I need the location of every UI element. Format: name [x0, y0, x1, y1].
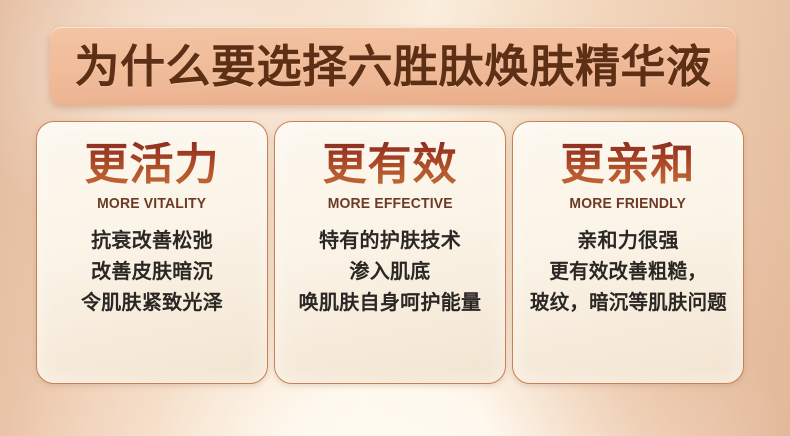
card-line: 渗入肌底 — [349, 259, 430, 283]
card-body-lines: 亲和力很强 更有效改善粗糙， 玻纹，暗沉等肌肤问题 — [513, 228, 743, 314]
card-subheading: MORE FRIENDLY — [570, 195, 687, 212]
card-body-lines: 抗衰改善松弛 改善皮肤暗沉 令肌肤紧致光泽 — [37, 228, 267, 314]
card-line: 令肌肤紧致光泽 — [81, 290, 223, 314]
card-heading: 更活力 — [85, 142, 220, 188]
card-body-lines: 特有的护肤技术 渗入肌底 唤肌肤自身呵护能量 — [275, 228, 505, 314]
feature-card-effective: 更有效 MORE EFFECTIVE 特有的护肤技术 渗入肌底 唤肌肤自身呵护能… — [274, 121, 506, 384]
card-subheading: MORE EFFECTIVE — [327, 195, 452, 212]
feature-card-vitality: 更活力 MORE VITALITY 抗衰改善松弛 改善皮肤暗沉 令肌肤紧致光泽 — [36, 121, 268, 384]
card-line: 玻纹，暗沉等肌肤问题 — [530, 290, 727, 314]
card-line: 改善皮肤暗沉 — [91, 259, 213, 283]
feature-card-friendly: 更亲和 MORE FRIENDLY 亲和力很强 更有效改善粗糙， 玻纹，暗沉等肌… — [512, 121, 744, 384]
header-banner: 为什么要选择六胜肽焕肤精华液 — [50, 27, 736, 105]
card-line: 特有的护肤技术 — [319, 228, 461, 252]
card-line: 更有效改善粗糙， — [549, 259, 707, 283]
feature-cards-row: 更活力 MORE VITALITY 抗衰改善松弛 改善皮肤暗沉 令肌肤紧致光泽 … — [36, 121, 744, 384]
card-subheading: MORE VITALITY — [97, 195, 206, 212]
banner-title: 为什么要选择六胜肽焕肤精华液 — [74, 44, 711, 89]
promo-poster: 为什么要选择六胜肽焕肤精华液 更活力 MORE VITALITY 抗衰改善松弛 … — [0, 0, 790, 436]
card-heading: 更亲和 — [561, 142, 696, 188]
card-line: 亲和力很强 — [577, 228, 679, 252]
card-line: 抗衰改善松弛 — [91, 228, 213, 252]
card-line: 唤肌肤自身呵护能量 — [299, 290, 482, 314]
card-heading: 更有效 — [323, 142, 458, 188]
